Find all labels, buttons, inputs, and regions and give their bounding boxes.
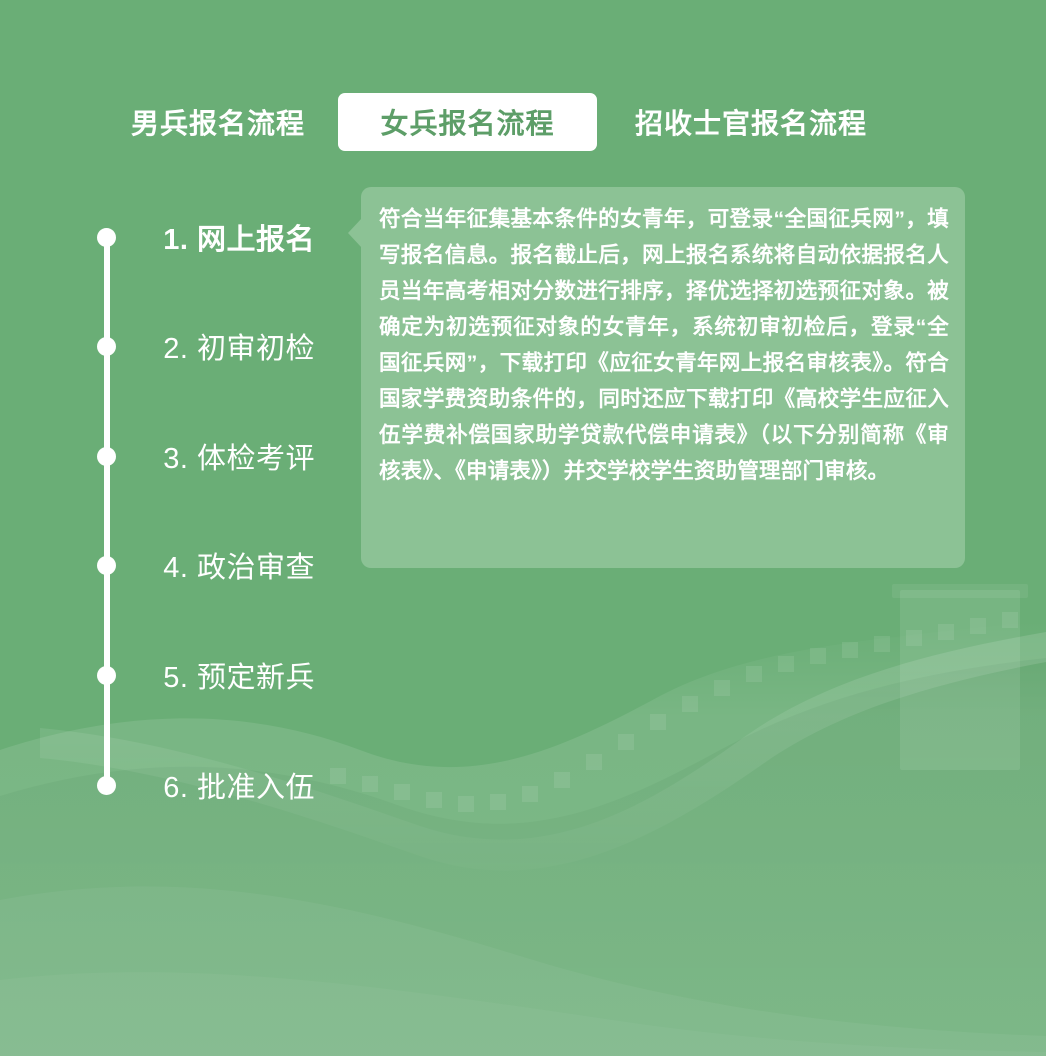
timeline-step-3[interactable]: 3. 体检考评 <box>0 434 340 478</box>
watchtower-shape <box>900 590 1020 770</box>
tab-noncommissioned-officer-process[interactable]: 招收士官报名流程 <box>611 93 891 151</box>
tab-female-soldier-process[interactable]: 女兵报名流程 <box>338 93 597 151</box>
step-detail-panel: 符合当年征集基本条件的女青年，可登录“全国征兵网”，填写报名信息。报名截止后，网… <box>361 187 965 568</box>
timeline-step-1[interactable]: 1. 网上报名 <box>0 215 340 259</box>
timeline-step-4[interactable]: 4. 政治审查 <box>0 543 340 587</box>
timeline-step-2[interactable]: 2. 初审初检 <box>0 324 340 368</box>
page-root: 男兵报名流程 女兵报名流程 招收士官报名流程 1. 网上报名 2. 初审初检 3… <box>0 0 1046 1056</box>
step-detail-text: 符合当年征集基本条件的女青年，可登录“全国征兵网”，填写报名信息。报名截止后，网… <box>379 201 949 489</box>
timeline-rail <box>104 237 110 787</box>
process-timeline: 1. 网上报名 2. 初审初检 3. 体检考评 4. 政治审查 5. 预定新兵 … <box>0 0 340 1056</box>
timeline-step-5[interactable]: 5. 预定新兵 <box>0 653 340 697</box>
timeline-step-label: 3. 体检考评 <box>0 434 315 478</box>
timeline-step-6[interactable]: 6. 批准入伍 <box>0 763 340 807</box>
timeline-step-label: 4. 政治审查 <box>0 543 315 587</box>
timeline-step-label: 6. 批准入伍 <box>0 763 315 807</box>
panel-pointer-arrow <box>348 218 362 248</box>
timeline-step-label: 5. 预定新兵 <box>0 653 315 697</box>
timeline-step-label: 1. 网上报名 <box>0 215 315 259</box>
watchtower-roof-shape <box>892 584 1028 598</box>
timeline-step-label: 2. 初审初检 <box>0 324 315 368</box>
